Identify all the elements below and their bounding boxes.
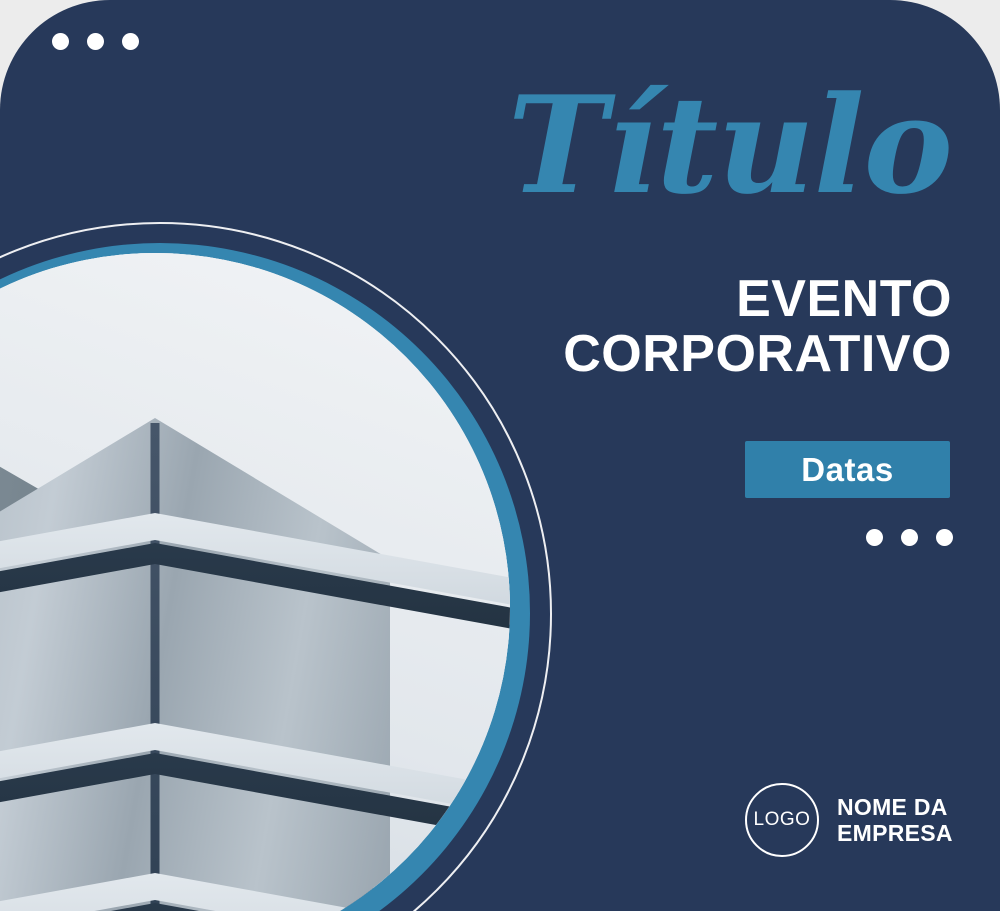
poster-canvas: Título EVENTO CORPORATIVO Datas LOGO NOM… xyxy=(0,0,1000,911)
decorative-dots-top xyxy=(52,33,139,50)
circular-photo-block xyxy=(0,243,530,911)
photo-building xyxy=(0,403,510,911)
dot-icon xyxy=(122,33,139,50)
poster-panel: Título EVENTO CORPORATIVO Datas LOGO NOM… xyxy=(0,0,1000,911)
event-subtitle: EVENTO CORPORATIVO xyxy=(563,272,952,382)
subtitle-line-2: CORPORATIVO xyxy=(563,327,952,382)
page-title: Título xyxy=(508,78,952,212)
dates-badge[interactable]: Datas xyxy=(745,441,950,498)
dot-icon xyxy=(87,33,104,50)
building-chevron-band xyxy=(0,723,510,873)
dot-icon xyxy=(901,529,918,546)
corporate-building-photo xyxy=(0,253,510,911)
dot-icon xyxy=(52,33,69,50)
building-chevron-band xyxy=(0,513,510,663)
footer-branding: LOGO NOME DA EMPRESA xyxy=(745,783,953,857)
decorative-dots-middle xyxy=(866,529,953,546)
logo-placeholder-icon: LOGO xyxy=(745,783,819,857)
subtitle-line-1: EVENTO xyxy=(563,272,952,327)
dot-icon xyxy=(936,529,953,546)
dot-icon xyxy=(866,529,883,546)
company-name: NOME DA EMPRESA xyxy=(837,794,953,847)
building-chevron-band xyxy=(0,873,510,911)
